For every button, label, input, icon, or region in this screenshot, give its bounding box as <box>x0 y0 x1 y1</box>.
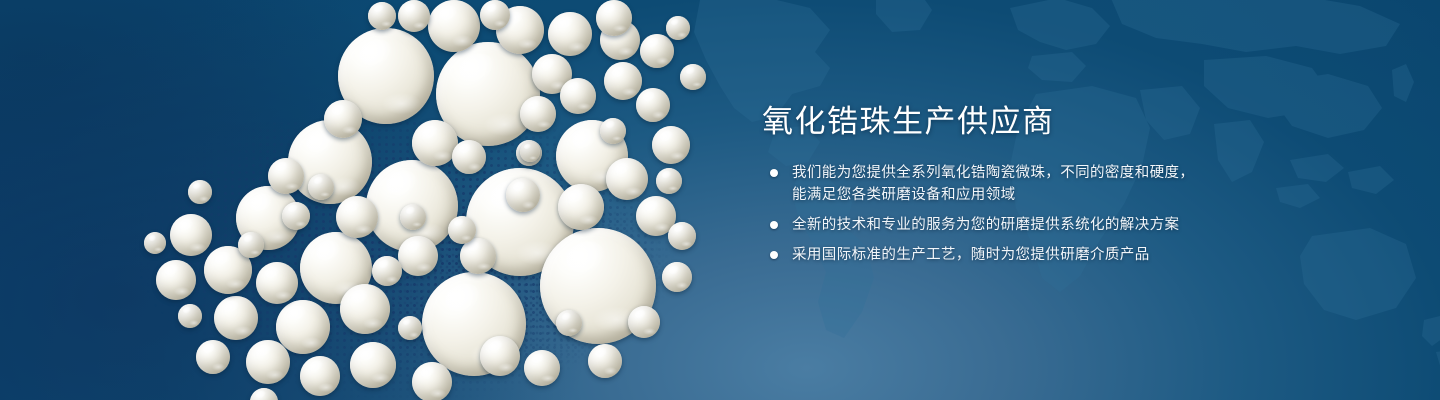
page-title: 氧化锆珠生产供应商 <box>762 104 1302 140</box>
bullet-dot-icon <box>770 221 778 229</box>
list-item-line: 我们能为您提供全系列氧化锆陶瓷微珠，不同的密度和硬度， <box>792 162 1302 184</box>
list-item: 我们能为您提供全系列氧化锆陶瓷微珠，不同的密度和硬度， 能满足您各类研磨设备和应… <box>762 162 1302 206</box>
feature-list: 我们能为您提供全系列氧化锆陶瓷微珠，不同的密度和硬度， 能满足您各类研磨设备和应… <box>762 162 1302 266</box>
hero-banner: 氧化锆珠生产供应商 我们能为您提供全系列氧化锆陶瓷微珠，不同的密度和硬度， 能满… <box>0 0 1440 400</box>
list-item: 全新的技术和专业的服务为您的研磨提供系统化的解决方案 <box>762 214 1302 236</box>
bullet-dot-icon <box>770 169 778 177</box>
banner-copy: 氧化锆珠生产供应商 我们能为您提供全系列氧化锆陶瓷微珠，不同的密度和硬度， 能满… <box>762 104 1302 266</box>
list-item-line: 采用国际标准的生产工艺，随时为您提供研磨介质产品 <box>792 244 1302 266</box>
list-item: 采用国际标准的生产工艺，随时为您提供研磨介质产品 <box>762 244 1302 266</box>
list-item-line: 能满足您各类研磨设备和应用领域 <box>792 184 1302 206</box>
bullet-dot-icon <box>770 251 778 259</box>
list-item-line: 全新的技术和专业的服务为您的研磨提供系统化的解决方案 <box>792 214 1302 236</box>
